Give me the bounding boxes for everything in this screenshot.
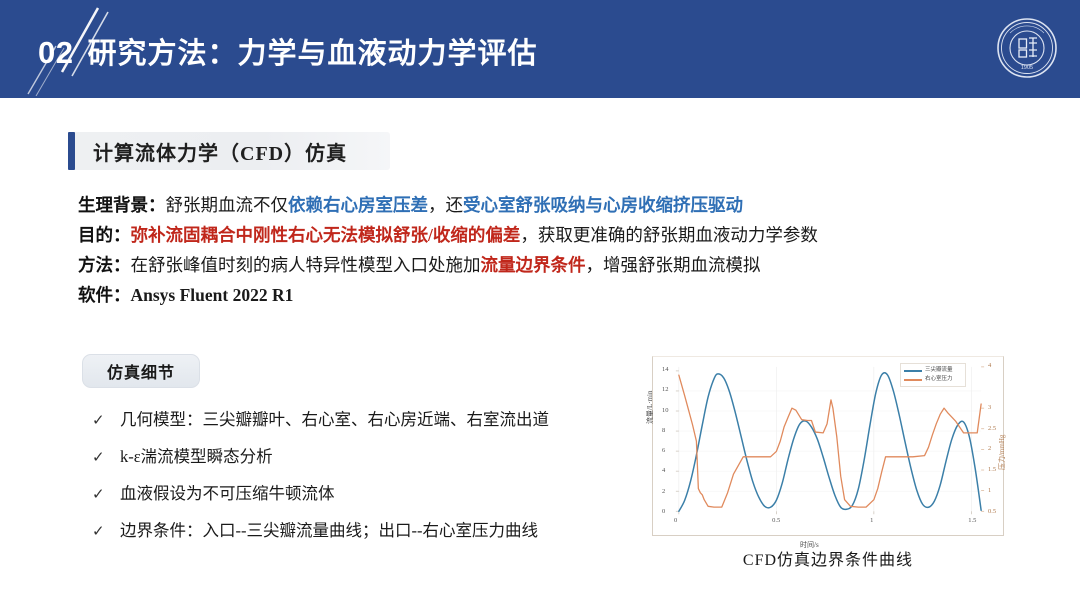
simulation-detail-label: 仿真细节 (107, 359, 175, 383)
body-text-block: 生理背景：舒张期血流不仅依赖右心房室压差，还受心室舒张吸纳与心房收缩挤压驱动 目… (78, 190, 978, 310)
check-icon: ✓ (92, 482, 108, 506)
purpose-text: ，获取更准确的舒张期血液动力学参数 (520, 225, 818, 245)
body-line-background: 生理背景：舒张期血流不仅依赖右心房室压差，还受心室舒张吸纳与心房收缩挤压驱动 (78, 190, 978, 220)
list-item-label: k-ε湍流模型瞬态分析 (120, 445, 273, 469)
method-label: 方法： (78, 255, 131, 275)
check-icon: ✓ (92, 519, 108, 543)
software-label: 软件： (78, 285, 131, 305)
chart-y2label: 压力/mmHg (997, 435, 1007, 470)
chart-legend: 三尖瓣流量 右心室压力 (900, 363, 966, 387)
purpose-label: 目的： (78, 225, 131, 245)
body-line-method: 方法：在舒张峰值时刻的病人特异性模型入口处施加流量边界条件，增强舒张期血流模拟 (78, 250, 978, 280)
purpose-highlight: 弥补流固耦合中刚性右心无法模拟舒张/收缩的偏差 (131, 225, 521, 245)
legend-label-flow: 三尖瓣流量 (925, 366, 953, 375)
y2tick-label: 0.5 (988, 508, 996, 515)
ytick-label: 8 (662, 427, 665, 434)
background-highlight-2: 受心室舒张吸纳与心房收缩挤压驱动 (463, 195, 743, 215)
ytick-label: 4 (662, 467, 665, 474)
ytick-label: 12 (662, 386, 669, 393)
ytick-label: 2 (662, 488, 665, 495)
method-text-2: ，增强舒张期血流模拟 (586, 255, 761, 275)
section-title-text: 计算流体力学（CFD）仿真 (75, 137, 373, 166)
legend-label-pressure: 右心室压力 (925, 375, 953, 384)
svg-text:1905: 1905 (1021, 65, 1033, 71)
section-accent-bar (68, 132, 75, 170)
xtick-label: 0 (674, 517, 677, 524)
checklist: ✓ 几何模型：三尖瓣瓣叶、右心室、右心房近端、右室流出道 ✓ k-ε湍流模型瞬态… (92, 408, 632, 556)
list-item: ✓ k-ε湍流模型瞬态分析 (92, 445, 632, 469)
software-value: Ansys Fluent 2022 R1 (131, 285, 294, 305)
ytick-label: 6 (662, 447, 665, 454)
ytick-label: 0 (662, 508, 665, 515)
legend-entry: 三尖瓣流量 (904, 366, 962, 375)
background-text-2: ，还 (428, 195, 463, 215)
page-title: 研究方法：力学与血液动力学评估 (87, 30, 537, 72)
list-item-label: 边界条件：入口--三尖瓣流量曲线；出口--右心室压力曲线 (120, 519, 538, 543)
legend-entry: 右心室压力 (904, 375, 962, 384)
y2tick-label: 1.5 (988, 466, 996, 473)
method-text-1: 在舒张峰值时刻的病人特异性模型入口处施加 (131, 255, 481, 275)
university-seal-logo: 1905 (996, 17, 1058, 79)
y2tick-label: 2.5 (988, 425, 996, 432)
y2tick-label: 4 (988, 362, 991, 369)
background-highlight-1: 依赖右心房室压差 (288, 195, 428, 215)
xtick-label: 1.5 (968, 517, 976, 524)
legend-swatch-flow (904, 370, 922, 372)
simulation-detail-badge: 仿真细节 (82, 354, 200, 388)
method-highlight: 流量边界条件 (481, 255, 586, 275)
xtick-label: 0.5 (772, 517, 780, 524)
y2tick-label: 2 (988, 445, 991, 452)
header-title-row: 02 研究方法：力学与血液动力学评估 (38, 30, 538, 72)
list-item: ✓ 血液假设为不可压缩牛顿流体 (92, 482, 632, 506)
section-number: 02 (38, 35, 73, 71)
body-line-purpose: 目的：弥补流固耦合中刚性右心无法模拟舒张/收缩的偏差，获取更准确的舒张期血液动力… (78, 220, 978, 250)
list-item-label: 血液假设为不可压缩牛顿流体 (120, 482, 335, 506)
check-icon: ✓ (92, 408, 108, 432)
slide-header: 02 研究方法：力学与血液动力学评估 1905 (0, 0, 1080, 98)
background-text-1: 舒张期血流不仅 (166, 195, 289, 215)
body-line-software: 软件：Ansys Fluent 2022 R1 (78, 280, 978, 310)
xtick-label: 1 (870, 517, 873, 524)
y2tick-label: 1 (988, 487, 991, 494)
chart-gridlines (679, 367, 981, 511)
check-icon: ✓ (92, 445, 108, 469)
ytick-label: 10 (662, 407, 669, 414)
slide-root: 02 研究方法：力学与血液动力学评估 1905 计算流体力学（CFD）仿真 生理… (0, 0, 1080, 608)
list-item-label: 几何模型：三尖瓣瓣叶、右心室、右心房近端、右室流出道 (120, 408, 549, 432)
chart-caption: CFD仿真边界条件曲线 (652, 546, 1004, 570)
ytick-label: 14 (662, 366, 669, 373)
section-title-pill: 计算流体力学（CFD）仿真 (68, 132, 390, 170)
list-item: ✓ 边界条件：入口--三尖瓣流量曲线；出口--右心室压力曲线 (92, 519, 632, 543)
background-label: 生理背景： (78, 195, 166, 215)
list-item: ✓ 几何模型：三尖瓣瓣叶、右心室、右心房近端、右室流出道 (92, 408, 632, 432)
chart-ylabel: 流量/L·min (645, 391, 655, 424)
series-line-rv-pressure (679, 375, 981, 507)
header-divider (0, 98, 1080, 101)
series-line-tricuspid-flow (679, 373, 981, 511)
y2tick-label: 3 (988, 404, 991, 411)
legend-swatch-pressure (904, 379, 922, 381)
